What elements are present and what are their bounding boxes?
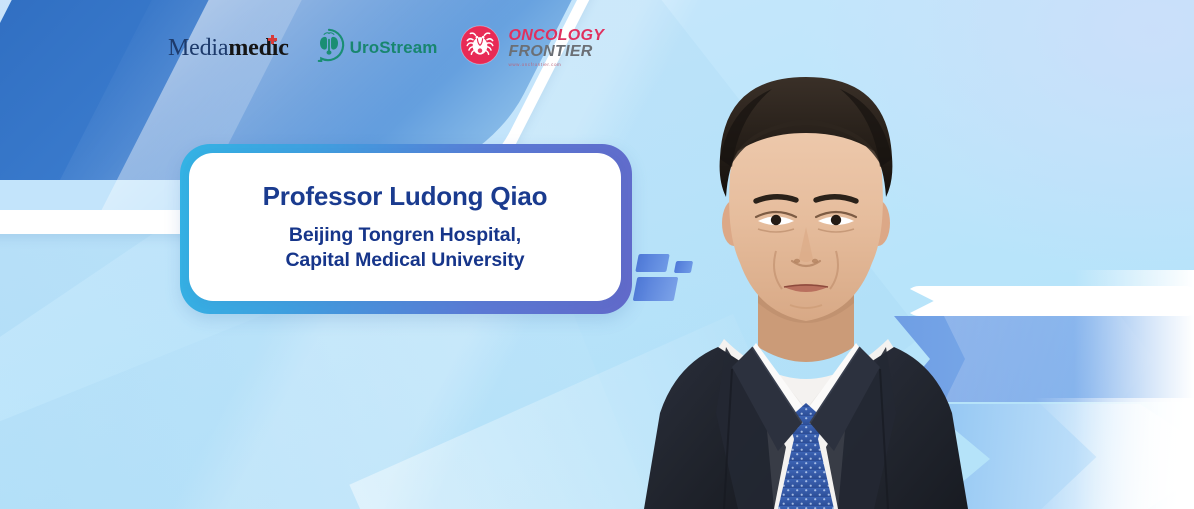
logo-oncology-frontier[interactable]: ONCOLOGY FRONTIER www.oncfrontier.com [459,24,604,71]
mediamedic-text-medic: medic [228,35,288,61]
oncology-frontier-wordmark: ONCOLOGY FRONTIER www.oncfrontier.com [508,28,604,67]
speaker-name: Professor Ludong Qiao [263,181,548,212]
red-cross-icon [268,35,277,44]
oncology-line: ONCOLOGY [508,28,604,44]
speaker-banner: Mediamedic UroStream [0,0,1194,509]
mediamedic-wordmark: Mediamedic [168,36,289,60]
crab-circle-icon [459,24,501,71]
oncology-frontier-url: www.oncfrontier.com [508,63,604,68]
frontier-line: FRONTIER [508,44,604,60]
speaker-card: Professor Ludong Qiao Beijing Tongren Ho… [180,144,632,314]
speaker-card-inner: Professor Ludong Qiao Beijing Tongren Ho… [189,153,621,301]
logo-mediamedic[interactable]: Mediamedic [168,36,289,60]
right-edge-fade [1074,270,1194,509]
urostream-label: UroStream [350,38,438,58]
speaker-portrait [606,47,1006,509]
speaker-affiliation: Beijing Tongren Hospital, Capital Medica… [285,223,524,273]
speaker-affiliation-line-2: Capital Medical University [285,248,524,273]
logo-urostream[interactable]: UroStream [311,27,438,68]
kidney-circle-icon [311,27,347,68]
logo-bar: Mediamedic UroStream [168,24,604,71]
speaker-affiliation-line-1: Beijing Tongren Hospital, [285,223,524,248]
mediamedic-text-media: Media [168,35,228,61]
